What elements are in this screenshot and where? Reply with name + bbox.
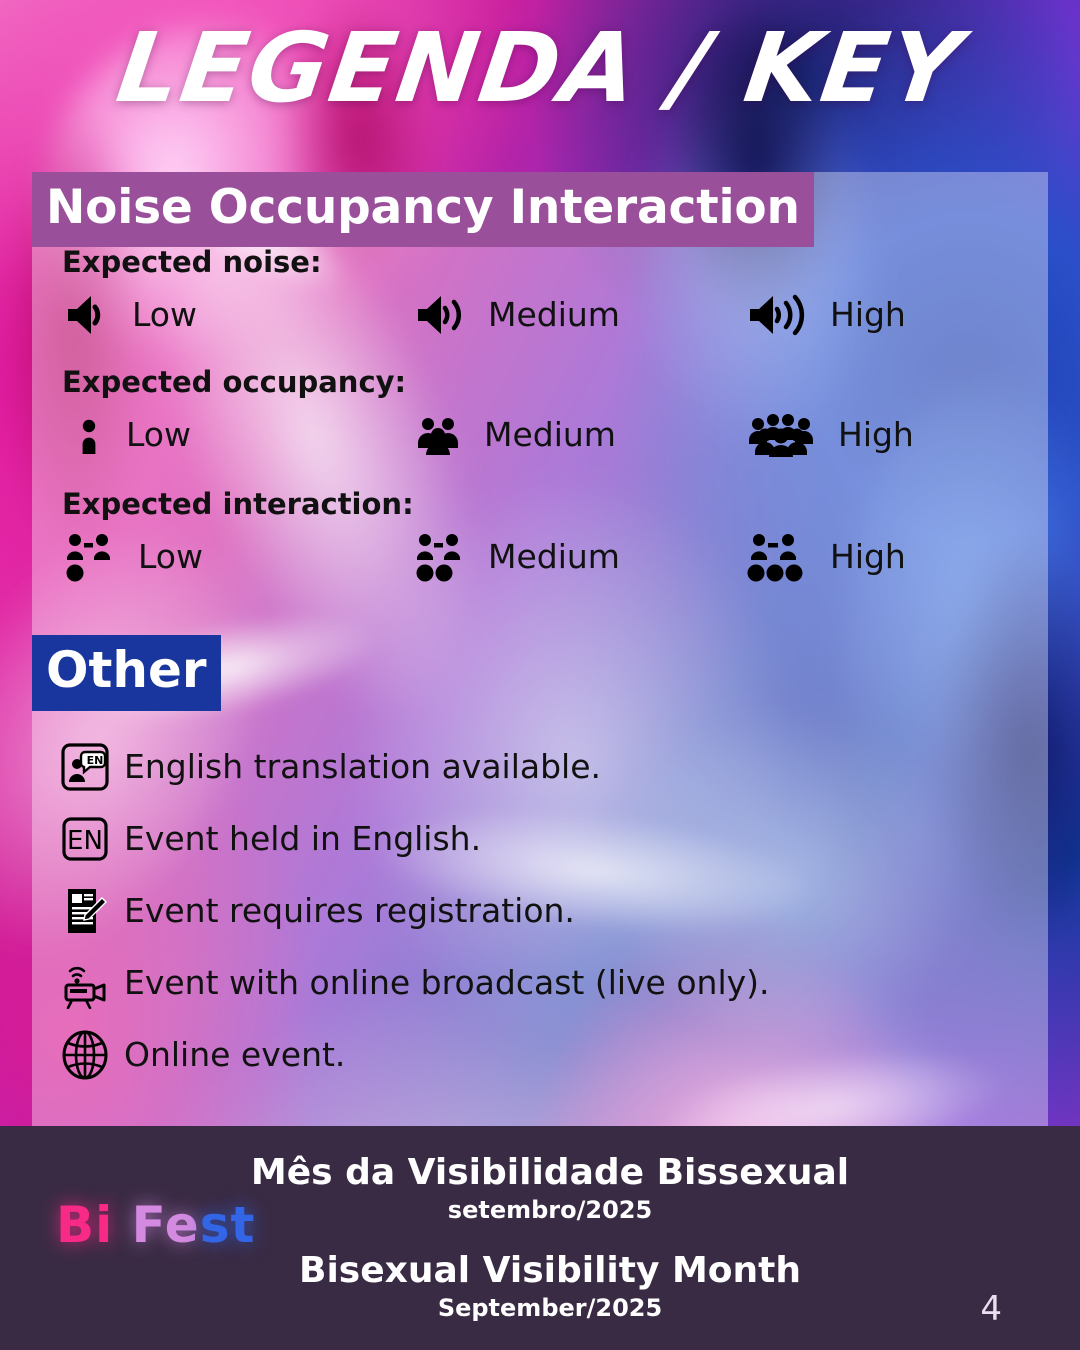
section-title-banner: Noise Occupancy Interaction <box>32 172 814 247</box>
footer-bar: Bi Fest Mês da Visibilidade Bissexual se… <box>0 1126 1080 1350</box>
legend-item-interaction-medium: Medium <box>414 531 746 583</box>
noise-row: Low Medium <box>62 283 1048 347</box>
legend-item-noise-low: Low <box>62 291 414 339</box>
legend-label-noise-medium: Medium <box>488 298 620 331</box>
group-label-occupancy: Expected occupancy: <box>62 367 1048 399</box>
broadcast-camera-icon <box>46 957 124 1009</box>
other-item-translation: EN English translation available. <box>32 731 1048 803</box>
globe-icon <box>46 1029 124 1081</box>
other-item-broadcast: Event with online broadcast (live only). <box>32 947 1048 1019</box>
other-text-broadcast: Event with online broadcast (live only). <box>124 966 770 999</box>
interaction-medium-icon <box>414 531 470 583</box>
en-badge-icon: EN <box>46 815 124 863</box>
footer-title-en: Bisexual Visibility Month <box>180 1248 920 1293</box>
legend-item-interaction-high: High <box>746 531 1046 583</box>
speaker-high-icon <box>746 291 814 339</box>
other-item-registration: Event requires registration. <box>32 875 1048 947</box>
person-single-icon <box>78 413 100 457</box>
other-text-online: Online event. <box>124 1038 345 1071</box>
footer-subtitle-en: September/2025 <box>180 1293 920 1324</box>
legend-label-occupancy-low: Low <box>126 418 191 451</box>
people-group-small-icon <box>414 413 464 457</box>
poster-canvas: LEGENDA / KEY Noise Occupancy Interactio… <box>0 0 1080 1350</box>
legend-label-noise-high: High <box>830 298 906 331</box>
legend-label-occupancy-high: High <box>838 418 914 451</box>
interaction-low-icon <box>64 531 120 583</box>
legend-item-occupancy-low: Low <box>62 413 414 457</box>
legend-item-interaction-low: Low <box>62 531 414 583</box>
legend-item-occupancy-medium: Medium <box>414 413 746 457</box>
other-text-translation: English translation available. <box>124 750 601 783</box>
svg-text:EN: EN <box>87 754 104 767</box>
other-item-online: Online event. <box>32 1019 1048 1091</box>
group-expected-occupancy: Expected occupancy: Low <box>32 367 1048 467</box>
legend-panel: Noise Occupancy Interaction Expected noi… <box>32 172 1048 1126</box>
other-section: Other EN English translation available. <box>32 635 1048 1091</box>
page-title: LEGENDA / KEY <box>0 16 1080 122</box>
legend-label-noise-low: Low <box>132 298 197 331</box>
translation-available-icon: EN <box>46 742 124 792</box>
legend-label-occupancy-medium: Medium <box>484 418 616 451</box>
footer-subtitle-pt: setembro/2025 <box>180 1195 920 1226</box>
legend-label-interaction-high: High <box>830 540 906 573</box>
interaction-row: Low Medium <box>62 525 1048 589</box>
page-number: 4 <box>980 1292 1002 1326</box>
other-title-banner: Other <box>32 635 221 711</box>
speaker-medium-icon <box>414 291 472 339</box>
people-crowd-icon <box>746 412 820 458</box>
footer-title-pt: Mês da Visibilidade Bissexual <box>180 1150 920 1195</box>
group-expected-noise: Expected noise: Low <box>32 247 1048 347</box>
occupancy-row: Low Medium <box>62 403 1048 467</box>
other-item-english: EN Event held in English. <box>32 803 1048 875</box>
speaker-low-icon <box>64 291 116 339</box>
group-expected-interaction: Expected interaction: Low <box>32 489 1048 589</box>
legend-item-noise-medium: Medium <box>414 291 746 339</box>
logo-part-bi: Bi <box>56 1196 113 1254</box>
registration-document-icon <box>46 886 124 936</box>
legend-label-interaction-low: Low <box>138 540 203 573</box>
interaction-high-icon <box>746 531 812 583</box>
other-text-registration: Event requires registration. <box>124 894 575 927</box>
group-label-interaction: Expected interaction: <box>62 489 1048 521</box>
footer-text-block: Mês da Visibilidade Bissexual setembro/2… <box>180 1150 920 1324</box>
group-label-noise: Expected noise: <box>62 247 1048 279</box>
legend-item-noise-high: High <box>746 291 1046 339</box>
svg-text:EN: EN <box>67 826 103 856</box>
other-text-english: Event held in English. <box>124 822 481 855</box>
legend-item-occupancy-high: High <box>746 412 1046 458</box>
legend-label-interaction-medium: Medium <box>488 540 620 573</box>
